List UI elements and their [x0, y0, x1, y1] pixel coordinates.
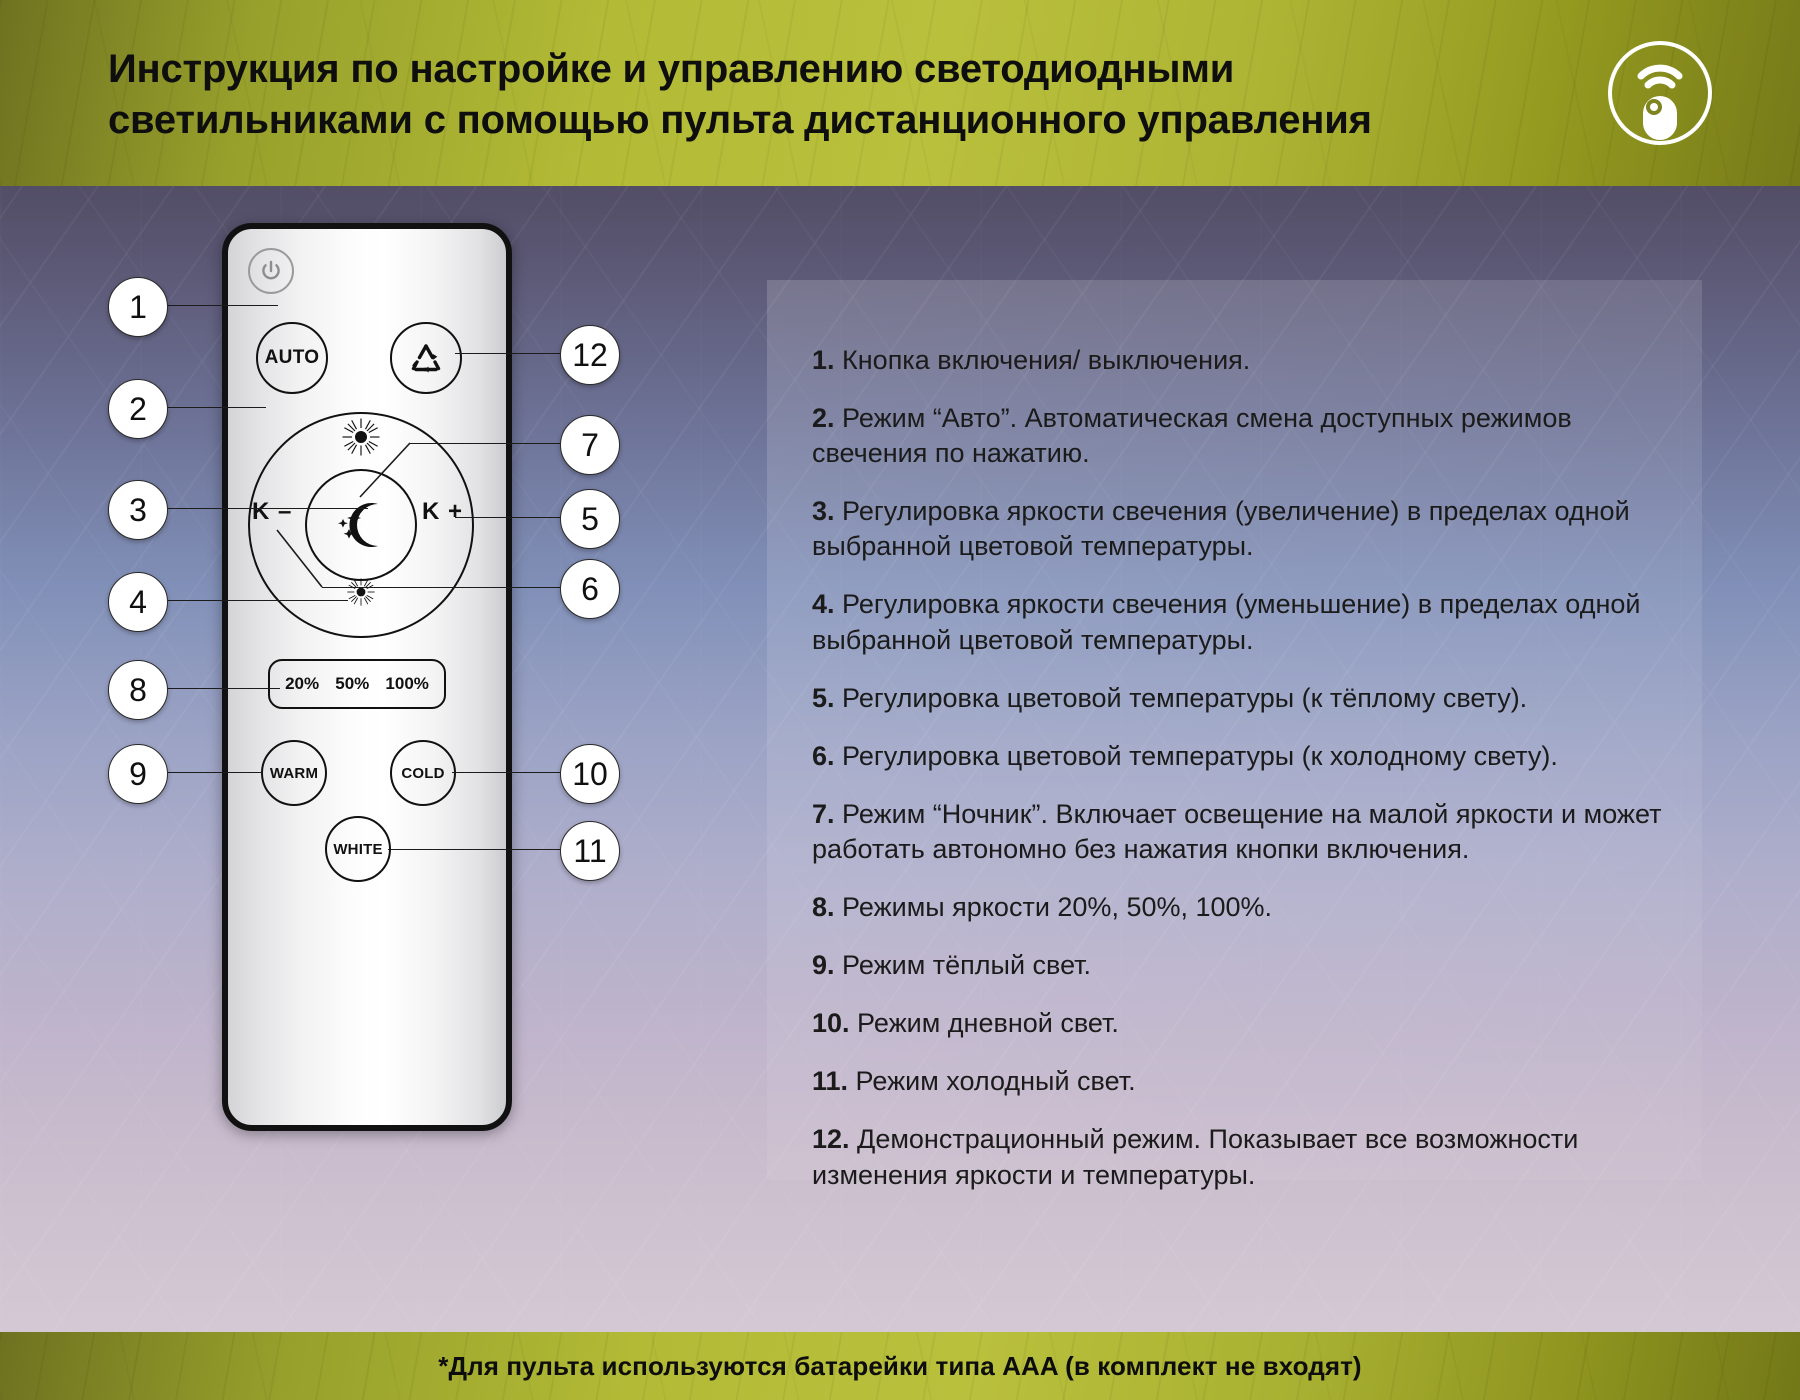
callout-9[interactable]: 9 — [108, 744, 168, 804]
instruction-item: 7. Режим “Ночник”. Включает освещение на… — [812, 797, 1692, 867]
instruction-item: 1. Кнопка включения/ выключения. — [812, 343, 1692, 378]
white-light-button[interactable]: WHITE — [325, 816, 391, 882]
instruction-text: Режим тёплый свет. — [835, 950, 1092, 980]
instruction-number: 11. — [812, 1066, 848, 1096]
instruction-text: Регулировка яркости свечения (уменьшение… — [812, 589, 1641, 654]
callout-10[interactable]: 10 — [560, 744, 620, 804]
instruction-number: 6. — [812, 741, 835, 771]
instruction-number: 5. — [812, 683, 835, 713]
cold-button-label: COLD — [401, 765, 444, 782]
callout-10-label: 10 — [572, 756, 608, 793]
callout-9-label: 9 — [129, 756, 147, 793]
remote-control-signal-icon — [1605, 38, 1715, 148]
callout-12-label: 12 — [572, 337, 608, 374]
instruction-item: 10. Режим дневной свет. — [812, 1006, 1692, 1041]
instruction-item: 11. Режим холодный свет. — [812, 1064, 1692, 1099]
infographic-page: Инструкция по настройке и управлению све… — [0, 0, 1800, 1400]
callout-2[interactable]: 2 — [108, 379, 168, 439]
leader-line-9 — [168, 772, 263, 773]
white-button-label: WHITE — [333, 841, 382, 858]
battery-note: *Для пульта используются батарейки типа … — [0, 1332, 1800, 1400]
instruction-text: Регулировка цветовой температуры (к тёпл… — [835, 683, 1528, 713]
callout-1-label: 1 — [129, 289, 147, 326]
callout-6-label: 6 — [581, 571, 599, 608]
callout-2-label: 2 — [129, 391, 147, 428]
callout-8[interactable]: 8 — [108, 660, 168, 720]
callout-5-label: 5 — [581, 501, 599, 538]
footer-bar: *Для пульта используются батарейки типа … — [0, 1332, 1800, 1400]
callout-11[interactable]: 11 — [560, 821, 620, 881]
instruction-item: 5. Регулировка цветовой температуры (к т… — [812, 681, 1692, 716]
callout-7-label: 7 — [581, 427, 599, 464]
instruction-number: 10. — [812, 1008, 850, 1038]
instruction-text: Кнопка включения/ выключения. — [835, 345, 1251, 375]
leader-line-10 — [452, 772, 560, 773]
instruction-item: 2. Режим “Авто”. Автоматическая смена до… — [812, 401, 1692, 471]
callout-1[interactable]: 1 — [108, 277, 168, 337]
instruction-number: 3. — [812, 496, 835, 526]
instruction-number: 4. — [812, 589, 835, 619]
warm-light-button[interactable]: WARM — [261, 740, 327, 806]
instruction-text: Режимы яркости 20%, 50%, 100%. — [835, 892, 1273, 922]
instruction-number: 12. — [812, 1124, 850, 1154]
instruction-item: 9. Режим тёплый свет. — [812, 948, 1692, 983]
instruction-number: 8. — [812, 892, 835, 922]
instruction-text: Режим “Ночник”. Включает освещение на ма… — [812, 799, 1661, 864]
instruction-text: Регулировка цветовой температуры (к холо… — [835, 741, 1558, 771]
instruction-text: Регулировка яркости свечения (увеличение… — [812, 496, 1630, 561]
warm-button-label: WARM — [270, 765, 318, 782]
instruction-item: 3. Регулировка яркости свечения (увеличе… — [812, 494, 1692, 564]
callout-3-label: 3 — [129, 492, 147, 529]
callout-8-label: 8 — [129, 672, 147, 709]
instruction-number: 2. — [812, 403, 835, 433]
callout-6[interactable]: 6 — [560, 559, 620, 619]
instruction-item: 8. Режимы яркости 20%, 50%, 100%. — [812, 890, 1692, 925]
callout-7[interactable]: 7 — [560, 415, 620, 475]
instruction-text: Демонстрационный режим. Показывает все в… — [812, 1124, 1578, 1189]
callout-4-label: 4 — [129, 584, 147, 621]
instructions-list: 1. Кнопка включения/ выключения. 2. Режи… — [812, 343, 1692, 1216]
instruction-text: Режим дневной свет. — [850, 1008, 1119, 1038]
callout-3[interactable]: 3 — [108, 480, 168, 540]
cold-light-button[interactable]: COLD — [390, 740, 456, 806]
instruction-text: Режим холодный свет. — [848, 1066, 1136, 1096]
instruction-number: 7. — [812, 799, 835, 829]
instruction-number: 1. — [812, 345, 835, 375]
instruction-item: 4. Регулировка яркости свечения (уменьше… — [812, 587, 1692, 657]
callout-4[interactable]: 4 — [108, 572, 168, 632]
instruction-number: 9. — [812, 950, 835, 980]
instruction-text: Режим “Авто”. Автоматическая смена досту… — [812, 403, 1572, 468]
callout-12[interactable]: 12 — [560, 325, 620, 385]
leader-line-11 — [388, 849, 560, 850]
instruction-item: 6. Регулировка цветовой температуры (к х… — [812, 739, 1692, 774]
instruction-item: 12. Демонстрационный режим. Показывает в… — [812, 1122, 1692, 1192]
callout-5[interactable]: 5 — [560, 489, 620, 549]
callout-11-label: 11 — [573, 833, 606, 870]
